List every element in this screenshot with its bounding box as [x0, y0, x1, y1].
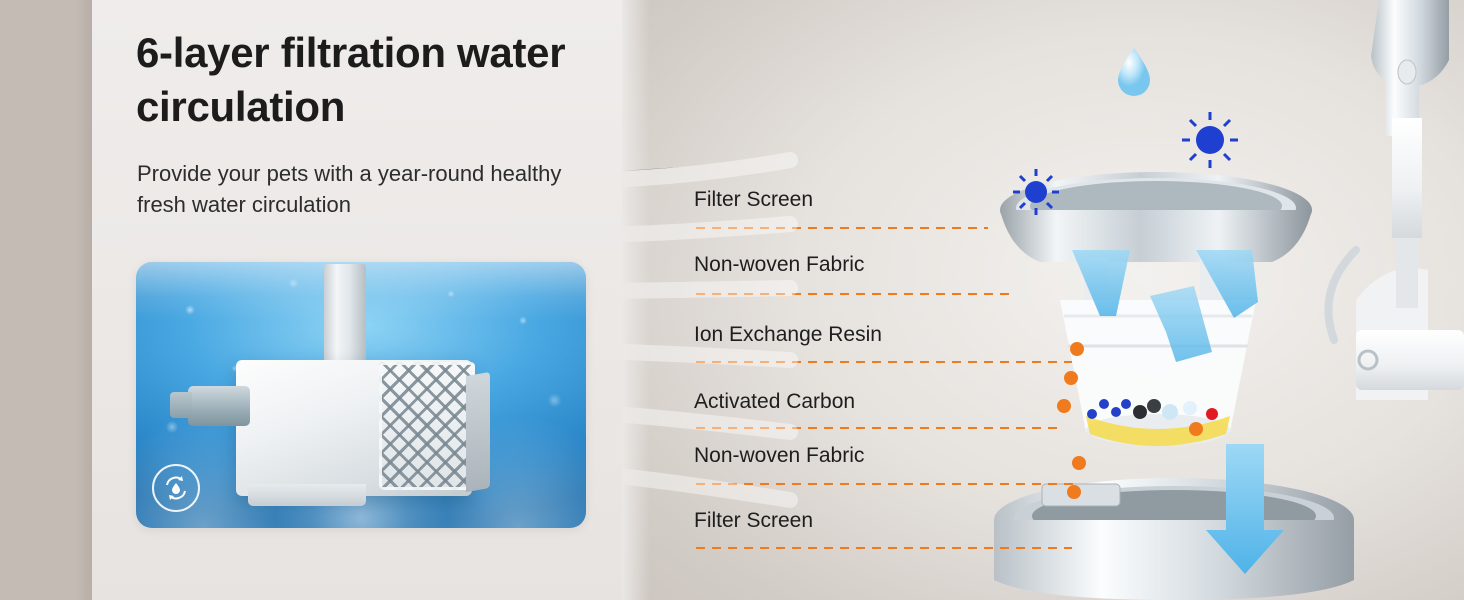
water-recycle-icon: [152, 464, 200, 512]
layer-label-1: Filter Screen: [694, 188, 813, 212]
layer-label-5: Non-woven Fabric: [694, 444, 864, 468]
layer-label-4: Activated Carbon: [694, 390, 855, 414]
left-text-panel: 6-layer filtration water circulation Pro…: [92, 0, 622, 600]
page-title: 6-layer filtration water circulation: [136, 26, 586, 134]
layer-label-2: Non-woven Fabric: [694, 253, 864, 277]
pump-filter-mesh-side: [466, 372, 490, 492]
layer-label-3: Ion Exchange Resin: [694, 323, 882, 347]
pump-riser-tube: [324, 264, 366, 368]
banner-stage: Filter Screen Non-woven Fabric Ion Excha…: [0, 0, 1464, 600]
pump-base: [248, 484, 366, 506]
pump-outlet-nozzle: [188, 386, 250, 426]
product-illustration: [964, 0, 1464, 600]
layer-label-6: Filter Screen: [694, 509, 813, 533]
pump-filter-mesh: [379, 362, 475, 490]
subheading-text: Provide your pets with a year-round heal…: [137, 158, 597, 220]
pump-photo: [136, 262, 586, 528]
